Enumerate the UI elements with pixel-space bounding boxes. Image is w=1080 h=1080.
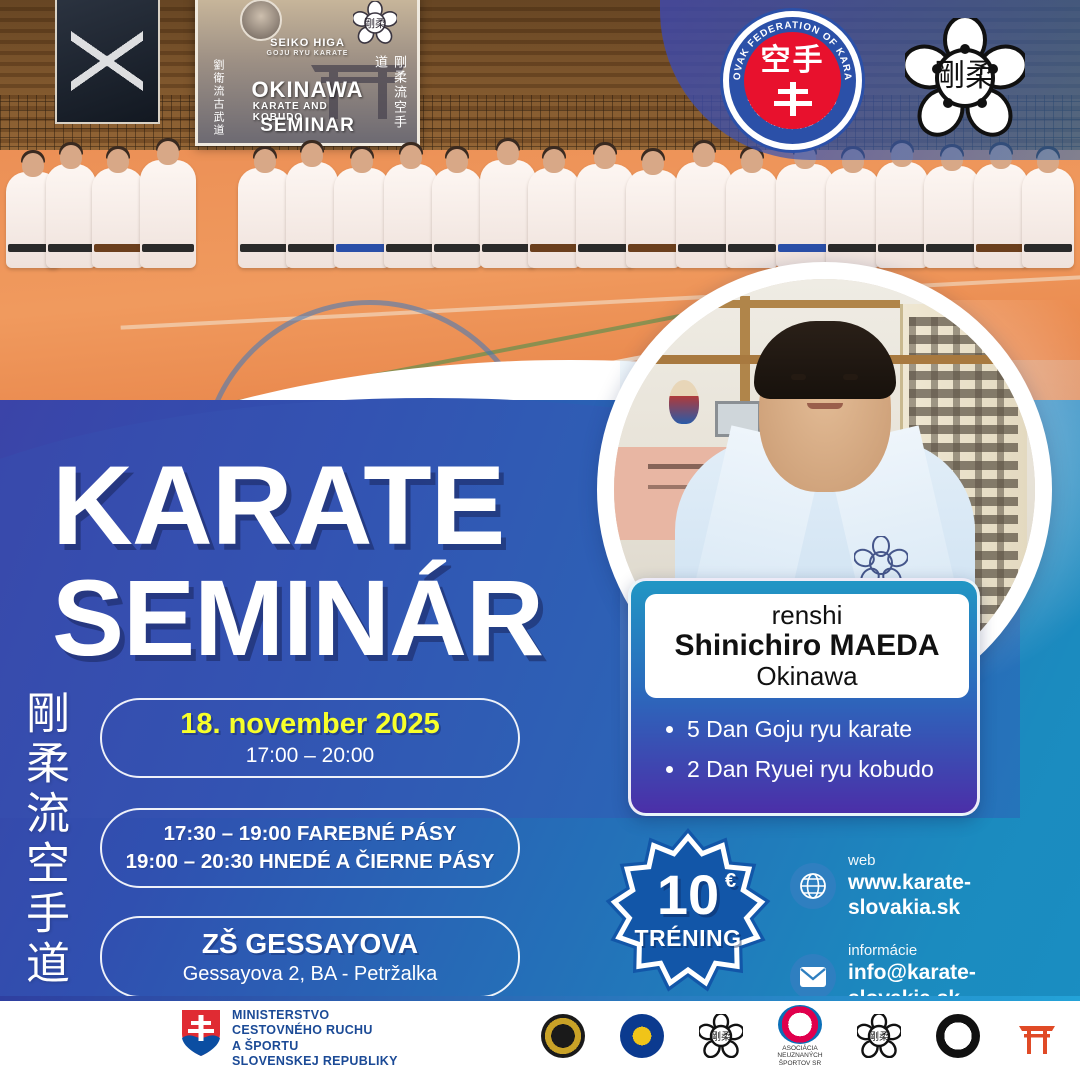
footer-divider <box>0 996 1080 1001</box>
credential-item: 2 Dan Ryuei ryu kobudo <box>687 749 934 789</box>
instructor-credentials: 5 Dan Goju ryu karate2 Dan Ryuei ryu kob… <box>665 709 934 790</box>
logo-mark <box>1015 1014 1059 1058</box>
price-amount: 10€ <box>657 870 719 920</box>
slovak-shield-icon <box>180 1008 222 1058</box>
logo-mark <box>620 1014 664 1058</box>
karateka <box>334 168 390 268</box>
karateka <box>238 168 292 268</box>
currency-symbol: € <box>725 872 736 890</box>
karateka <box>384 164 438 268</box>
karateka <box>140 160 196 268</box>
karateka <box>626 170 680 268</box>
page-title: KARATE SEMINÁR <box>52 452 652 669</box>
karateka <box>974 164 1028 268</box>
schedule-line-1: 17:30 – 19:00 FAREBNÉ PÁSY <box>164 820 457 848</box>
logo-mark <box>778 1005 822 1044</box>
logo-mark <box>541 1014 585 1058</box>
sakura-kanji: 剛柔 <box>364 17 386 30</box>
karateka <box>432 168 482 268</box>
karateka <box>46 164 96 268</box>
instructor-card: renshi Shinichiro MAEDA Okinawa 5 Dan Go… <box>628 578 980 816</box>
karateka <box>528 168 580 268</box>
banner-line3: SEMINAR <box>260 115 355 137</box>
logo-mark: 剛柔 <box>857 1014 901 1058</box>
schedule-line-2: 19:00 – 20:30 HNEDÉ A ČIERNE PÁSY <box>126 848 495 876</box>
partner-logo <box>532 1005 594 1067</box>
instructor-name: Shinichiro MAEDA <box>674 629 939 662</box>
federation-logo: SLOVAK FEDERATION OF KARATE AND MARTIAL … <box>720 8 865 153</box>
schedule-pill: 17:30 – 19:00 FAREBNÉ PÁSY 19:00 – 20:30… <box>100 808 520 888</box>
federation-kanji: 空手 <box>761 46 825 76</box>
svg-text:剛柔: 剛柔 <box>934 58 996 94</box>
karateka <box>1022 168 1074 268</box>
banner-jp-right: 剛柔流空手道 <box>371 55 409 143</box>
partner-logo: 剛柔 <box>690 1005 752 1067</box>
venue-address: Gessayova 2, BA - Petržalka <box>183 963 438 986</box>
instructor-name-box: renshi Shinichiro MAEDA Okinawa <box>645 594 969 698</box>
banner-line1: OKINAWA <box>251 77 363 103</box>
price-badge: 10€ TRÉNING <box>605 828 771 994</box>
partner-logos: 剛柔ASOCIÁCIA NEUZNANÝCH ŠPORTOV SR剛柔 <box>532 1005 1068 1067</box>
partner-logo <box>611 1005 673 1067</box>
banner-master-name: SEIKO HIGA <box>270 37 345 49</box>
venue-pill: ZŠ GESSAYOVA Gessayova 2, BA - Petržalka <box>100 916 520 998</box>
title-line-2: SEMINÁR <box>52 566 652 670</box>
venue-name: ZŠ GESSAYOVA <box>202 928 418 960</box>
karateka <box>924 166 980 268</box>
goju-sakura-logo: 剛柔 <box>905 18 1025 138</box>
logo-mark: 剛柔 <box>699 1014 743 1058</box>
partner-logo: ASOCIÁCIA NEUZNANÝCH ŠPORTOV SR <box>769 1005 831 1067</box>
web-value[interactable]: www.karate-slovakia.sk <box>848 871 971 919</box>
title-line-1: KARATE <box>52 452 652 560</box>
partner-logo: 剛柔 <box>848 1005 910 1067</box>
seiko-higa-portrait <box>240 0 282 41</box>
ministry-logo: MINISTERSTVO CESTOVNÉHO RUCHU A ŠPORTU S… <box>180 1008 398 1069</box>
price-label: TRÉNING <box>635 925 742 952</box>
logo-caption: ASOCIÁCIA NEUZNANÝCH ŠPORTOV SR <box>769 1045 831 1067</box>
svg-text:剛柔: 剛柔 <box>711 1031 731 1043</box>
slovak-cross-icon <box>773 82 813 116</box>
credential-item: 5 Dan Goju ryu karate <box>687 709 934 749</box>
vertical-kanji-goju-ryu: 剛柔流空手道 <box>18 690 69 990</box>
instructor-origin: Okinawa <box>756 662 857 690</box>
email-label: informácie <box>848 942 917 959</box>
envelope-icon <box>790 954 836 1000</box>
karateka <box>876 162 928 268</box>
partner-logo <box>1006 1005 1068 1067</box>
partner-logo <box>927 1005 989 1067</box>
svg-text:剛柔: 剛柔 <box>869 1031 889 1043</box>
logo-mark <box>936 1014 980 1058</box>
web-row[interactable]: web www.karate-slovakia.sk <box>790 852 1080 920</box>
instructor-rank: renshi <box>772 602 843 629</box>
event-time: 17:00 – 20:00 <box>246 744 374 768</box>
karate-seminar-poster: 剛柔 SEIKO HIGA GOJU RYU KARATE OKINAWA KA… <box>0 0 1080 1080</box>
footer: MINISTERSTVO CESTOVNÉHO RUCHU A ŠPORTU S… <box>0 996 1080 1080</box>
event-date: 18. november 2025 <box>180 708 440 741</box>
ministry-line-3: A ŠPORTU <box>232 1039 398 1054</box>
karateka <box>726 168 778 268</box>
globe-icon <box>790 863 836 909</box>
ministry-line-2: CESTOVNÉHO RUCHU <box>232 1023 398 1038</box>
web-label: web <box>848 852 876 869</box>
date-pill: 18. november 2025 17:00 – 20:00 <box>100 698 520 778</box>
ministry-line-4: SLOVENSKEJ REPUBLIKY <box>232 1054 398 1069</box>
sakura-icon: 剛柔 <box>353 1 397 45</box>
banner-jp-left: 劉衛流古武道 <box>210 59 226 137</box>
karateka <box>92 168 144 268</box>
ministry-line-1: MINISTERSTVO <box>232 1008 398 1023</box>
okinawa-seminar-banner: 剛柔 SEIKO HIGA GOJU RYU KARATE OKINAWA KA… <box>195 0 420 146</box>
wall-banner-left <box>55 0 160 124</box>
federation-emblem: 空手 <box>744 32 841 129</box>
banner-master-style: GOJU RYU KARATE <box>267 50 349 57</box>
ministry-text: MINISTERSTVO CESTOVNÉHO RUCHU A ŠPORTU S… <box>232 1008 398 1069</box>
karateka <box>826 168 880 268</box>
karateka <box>286 162 338 268</box>
karateka <box>676 162 732 268</box>
